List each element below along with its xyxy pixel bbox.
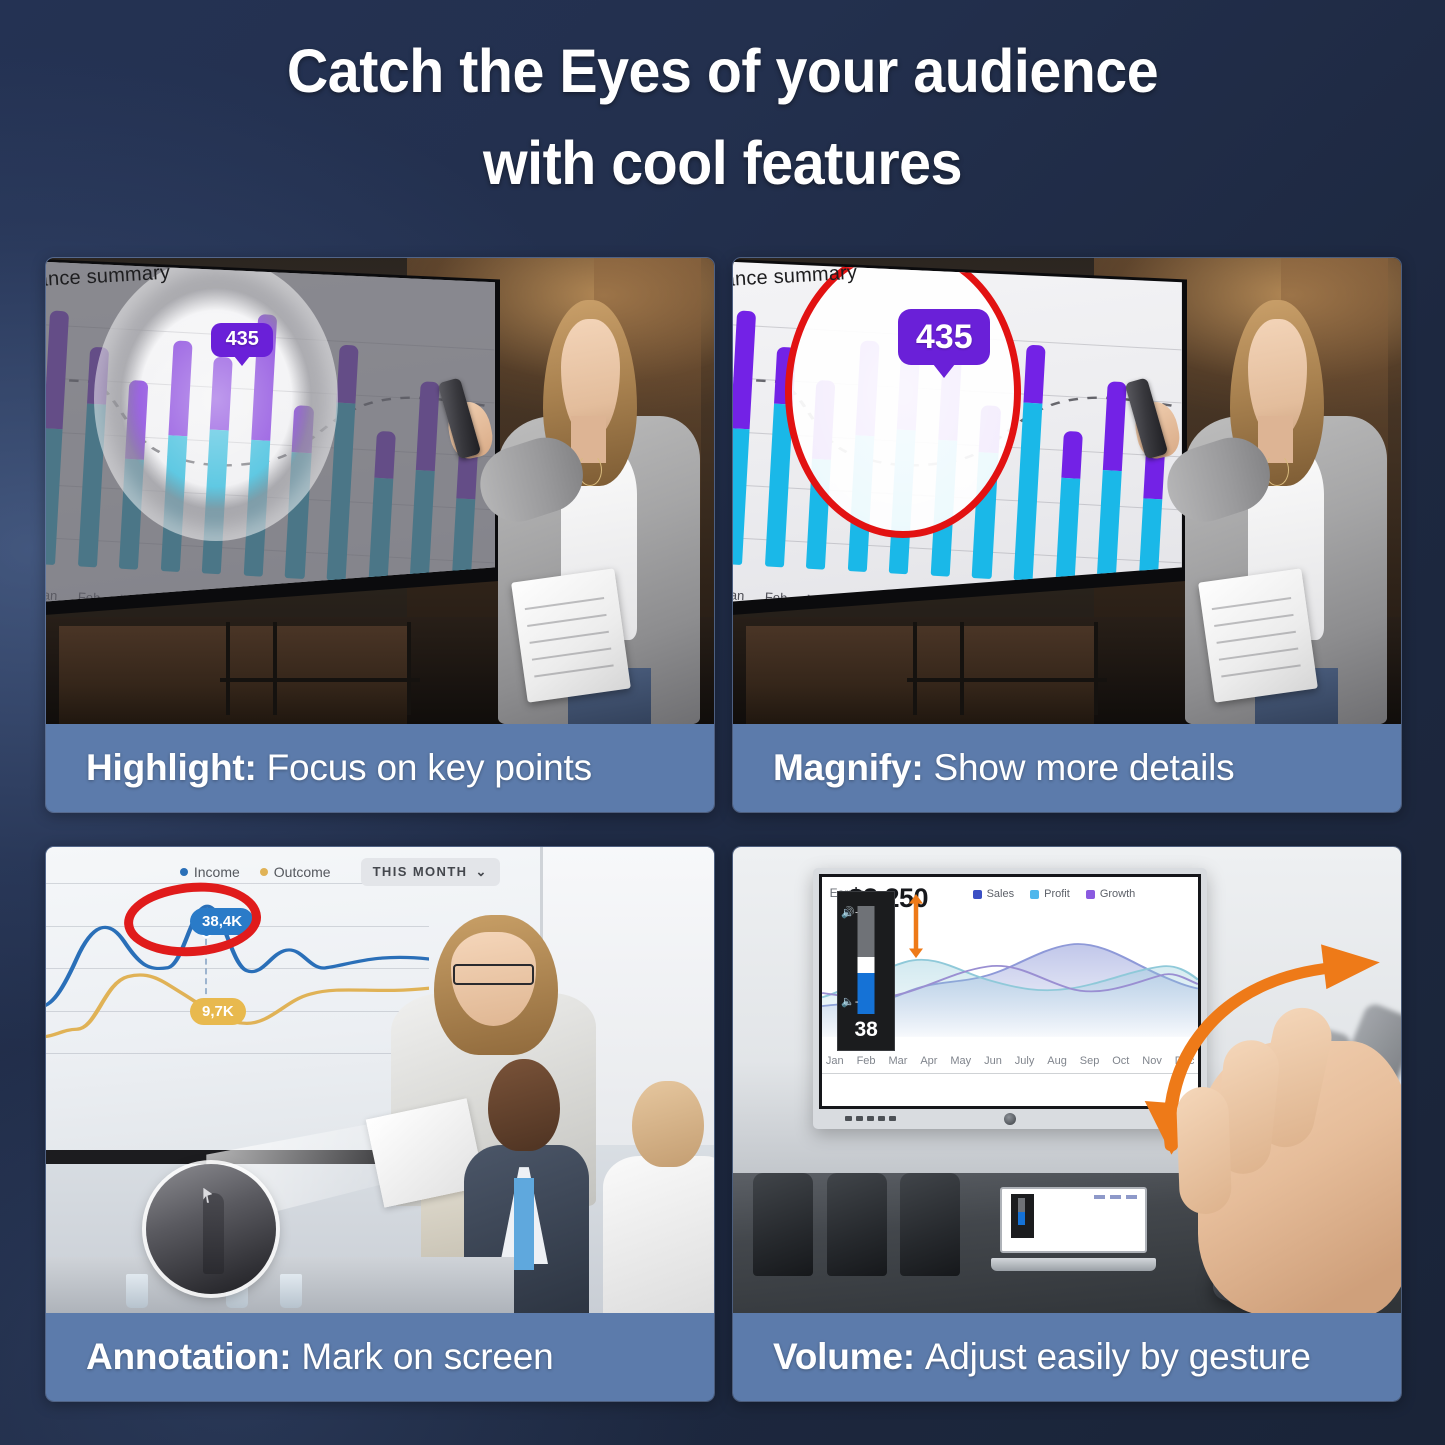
wall-panel (594, 258, 701, 547)
feature-panel-grid: JanFebMarAprMayJunJulAugSepOctNov 435 rm… (45, 257, 1402, 1402)
office-chair (900, 1173, 960, 1276)
volume-level-value: 38 (838, 1018, 894, 1042)
display-camera-icon (1004, 1113, 1016, 1125)
annotation-photo: Income Outcome THIS MONTH ⌄ 38,4K 9,7K (46, 847, 714, 1313)
x-axis-tick-label: Feb (857, 1055, 876, 1067)
tv-stand-leg (273, 622, 277, 715)
legend-item-outcome: Outcome (260, 864, 331, 880)
legend-label: Sales (987, 888, 1015, 900)
legend-label: Growth (1100, 888, 1135, 900)
legend-item-profit: Profit (1030, 888, 1070, 900)
chart-bar (1014, 319, 1048, 581)
tv-stand-leg (407, 622, 411, 715)
volume-slider-knob[interactable] (858, 957, 875, 973)
audience-member-tie (514, 1178, 533, 1270)
tv-stand-leg (226, 622, 230, 715)
wall-panel (1281, 258, 1388, 547)
water-glass (280, 1274, 302, 1308)
legend-item-income: Income (180, 864, 240, 880)
bar-segment-upper (897, 356, 920, 430)
volume-osd-overlay: 🔊+ 🔈- 38 (837, 891, 895, 1051)
x-axis-tick-label: Jan (826, 1055, 844, 1067)
remote-button-zoom-callout (146, 1164, 276, 1294)
volume-slider-fill (858, 973, 875, 1014)
x-axis-tick-label: Aug (1014, 603, 1034, 605)
period-label: THIS MONTH (373, 864, 468, 879)
growth-color-swatch (1086, 890, 1095, 899)
value-tooltip: 435 (211, 323, 273, 357)
panel-caption-highlight: Highlight: Focus on key points (46, 724, 714, 812)
presentation-display: JanFebMarAprMayJunJulAugSepOctNov 435 rm… (733, 258, 1187, 617)
legend-label: Profit (1044, 888, 1070, 900)
x-axis-tick-label: May (950, 1055, 971, 1067)
chart-bar (733, 303, 757, 565)
bar-segment-upper (1143, 441, 1165, 500)
bar-segment-upper (1024, 345, 1046, 404)
x-axis-tick-label: Mar (888, 1055, 907, 1067)
legend-label: Income (194, 864, 240, 880)
x-axis-tick-label: July (1015, 1055, 1035, 1067)
x-axis-tick-label: Aug (1047, 1055, 1067, 1067)
headline-line-2: with cool features (43, 118, 1401, 210)
chart-legend: Sales Profit Growth (973, 888, 1136, 900)
bar-segment-lower (733, 428, 750, 565)
magnify-photo: JanFebMarAprMayJunJulAugSepOctNov 435 rm… (733, 258, 1401, 724)
laptop-volume-overlay (1011, 1194, 1034, 1238)
chart-bar (1097, 323, 1131, 585)
legend-item-growth: Growth (1086, 888, 1135, 900)
bar-segment-upper (733, 310, 757, 429)
legend-label: Outcome (274, 864, 331, 880)
office-chair (827, 1173, 887, 1276)
volume-down-icon: 🔈- (841, 995, 858, 1008)
feature-panel-annotation[interactable]: Income Outcome THIS MONTH ⌄ 38,4K 9,7K (45, 846, 715, 1402)
x-axis-tick-label: Jun (984, 1055, 1002, 1067)
chevron-down-icon: ⌄ (475, 864, 487, 880)
period-selector-button[interactable]: THIS MONTH ⌄ (361, 858, 500, 886)
bar-segment-lower (1014, 403, 1043, 582)
headline-line-1: Catch the Eyes of your audience (287, 37, 1158, 105)
outcome-tooltip: 9,7K (190, 998, 246, 1025)
chart-legend: Income Outcome THIS MONTH ⌄ (180, 858, 500, 886)
volume-slider-track[interactable] (858, 906, 875, 1014)
tv-stand-bar (907, 678, 1107, 682)
laptop-volume-track (1018, 1198, 1026, 1225)
outcome-color-dot (260, 868, 268, 876)
x-axis-tick-label: Aug (327, 603, 347, 605)
display-screen: JanFebMarAprMayJunJulAugSepOctNov 435 rm… (733, 261, 1182, 605)
caption-title: Highlight: (86, 747, 257, 789)
water-glass (126, 1274, 148, 1308)
feature-panel-volume[interactable]: Earnings $3,250 Sales Profit (732, 846, 1402, 1402)
bar-segment-lower (765, 404, 793, 567)
panel-caption-magnify: Magnify: Show more details (733, 724, 1401, 812)
chart-bar (806, 307, 840, 569)
bar-segment-lower (848, 435, 875, 572)
caption-title: Volume: (773, 1336, 915, 1378)
x-axis-tick-label: Jul (972, 601, 992, 605)
bar-segment-upper (979, 405, 1001, 453)
cabinet (59, 626, 406, 724)
x-axis-tick-label: Jul (285, 601, 305, 605)
chart-bar (1055, 321, 1089, 583)
tv-stand-bar (220, 678, 420, 682)
bar-segment-lower (931, 440, 958, 577)
chart-bar (765, 305, 799, 567)
caption-text: Show more details (934, 747, 1235, 789)
bar-segment-lower (1097, 470, 1123, 586)
page-title: Catch the Eyes of your audience with coo… (43, 26, 1401, 209)
feature-panel-highlight[interactable]: JanFebMarAprMayJunJulAugSepOctNov 435 rm… (45, 257, 715, 813)
chart-bar (848, 310, 882, 572)
audience-member-head (488, 1059, 560, 1151)
vertical-gesture-arrow-icon (909, 894, 923, 958)
caption-text: Adjust easily by gesture (925, 1336, 1311, 1378)
income-color-dot (180, 868, 188, 876)
bar-segment-upper (1103, 381, 1127, 471)
presenter-glasses (453, 964, 534, 985)
profit-color-swatch (1030, 890, 1039, 899)
sales-color-swatch (973, 890, 982, 899)
tv-stand-leg (1094, 622, 1098, 715)
display-screen: JanFebMarAprMayJunJulAugSepOctNov 435 rm… (46, 261, 495, 605)
audience-member-top (603, 1156, 714, 1313)
bar-segment-upper (855, 341, 879, 436)
bar-segment-lower (972, 452, 998, 579)
caption-title: Magnify: (773, 747, 924, 789)
tv-stand-leg (960, 622, 964, 715)
caption-title: Annotation: (86, 1336, 291, 1378)
highlight-photo: JanFebMarAprMayJunJulAugSepOctNov 435 rm… (46, 258, 714, 724)
office-chair (753, 1173, 813, 1276)
user-hand: ◉ ▲ ▲ ✺ (1080, 987, 1401, 1313)
spotlight-dim-overlay (46, 261, 495, 605)
legend-item-sales: Sales (973, 888, 1015, 900)
volume-photo: Earnings $3,250 Sales Profit (733, 847, 1401, 1313)
bar-segment-lower (806, 459, 831, 570)
feature-panel-magnify[interactable]: JanFebMarAprMayJunJulAugSepOctNov 435 rm… (732, 257, 1402, 813)
tv-stand-leg (913, 622, 917, 715)
panel-caption-annotation: Annotation: Mark on screen (46, 1313, 714, 1401)
hand-finger (1175, 1087, 1232, 1216)
audience-member-head (632, 1081, 704, 1167)
bar-segment-lower (889, 430, 916, 575)
laptop-volume-fill (1018, 1212, 1026, 1225)
bar-segment-upper (774, 347, 796, 406)
caption-text: Focus on key points (267, 747, 592, 789)
display-ports (845, 1116, 896, 1121)
value-tooltip: 435 (898, 309, 990, 365)
x-axis-tick-label: Jan (733, 587, 743, 603)
presentation-display: JanFebMarAprMayJunJulAugSepOctNov 435 rm… (46, 258, 500, 617)
panel-caption-volume: Volume: Adjust easily by gesture (733, 1313, 1401, 1401)
cabinet (746, 626, 1093, 724)
caption-text: Mark on screen (301, 1336, 553, 1378)
x-axis-tick-label: Apr (920, 1055, 937, 1067)
bar-segment-upper (1061, 431, 1083, 479)
remote-body (203, 1193, 224, 1274)
bar-segment-upper (812, 380, 835, 459)
bar-segment-lower (1055, 478, 1080, 584)
